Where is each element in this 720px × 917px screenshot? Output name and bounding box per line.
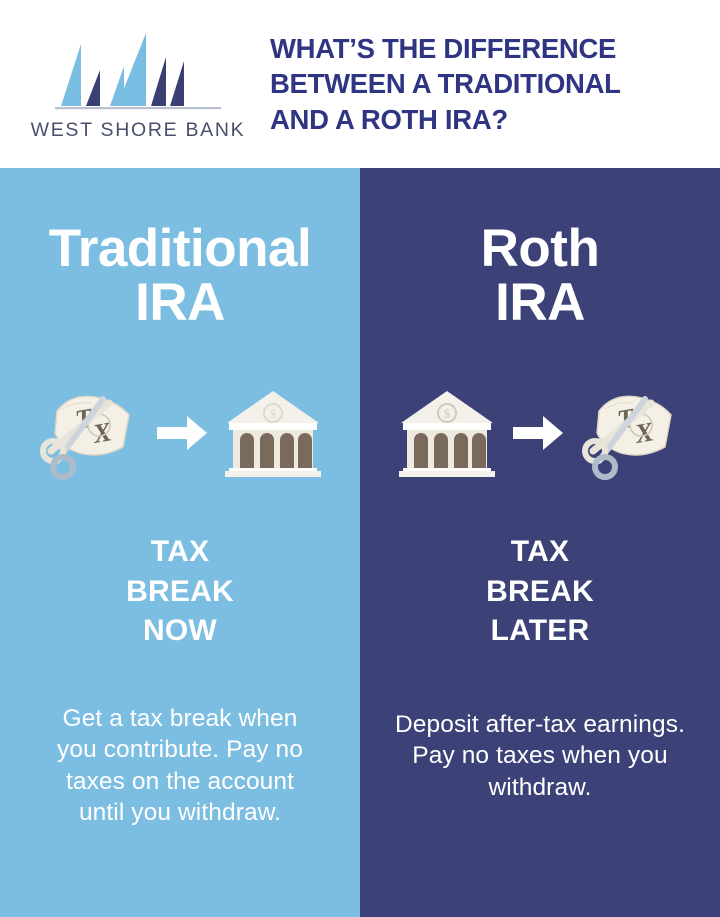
brand-wordmark: WEST SHORE BANK <box>31 119 246 142</box>
panel-traditional-title: Traditional IRA <box>49 222 311 330</box>
bank-icon: $ <box>397 383 497 483</box>
panel-roth-body-text: Deposit after-tax earnings. Pay no taxes… <box>360 709 720 803</box>
arrow-right-icon <box>155 413 209 453</box>
arrow-right-icon <box>511 413 565 453</box>
panel-traditional-body-text: Get a tax break when you contribute. Pay… <box>0 703 360 828</box>
panel-roth-icon-row: $ T <box>360 378 720 488</box>
three-sailboats-logo <box>53 30 223 116</box>
panel-roth-break-text: TAX BREAK LATER <box>486 532 594 651</box>
page-title: WHAT’S THE DIFFERENCE BETWEEN A TRADITIO… <box>254 31 720 137</box>
infographic-root: WEST SHORE BANK WHAT’S THE DIFFERENCE BE… <box>0 0 720 917</box>
panel-traditional-ira: Traditional IRA T X <box>0 168 360 917</box>
panel-roth-ira: Roth IRA $ <box>360 168 720 917</box>
tax-scissors-icon: T X <box>37 381 141 485</box>
svg-text:$: $ <box>270 406 277 421</box>
panel-traditional-break-text: TAX BREAK NOW <box>126 532 234 651</box>
header: WEST SHORE BANK WHAT’S THE DIFFERENCE BE… <box>0 0 720 168</box>
brand-logo: WEST SHORE BANK <box>22 26 254 142</box>
svg-text:$: $ <box>444 406 451 421</box>
bank-icon: $ <box>223 383 323 483</box>
panel-roth-title: Roth IRA <box>481 222 600 330</box>
tax-scissors-icon: T X <box>579 381 683 485</box>
panel-traditional-icon-row: T X $ <box>0 378 360 488</box>
comparison-panels: Traditional IRA T X <box>0 168 720 917</box>
